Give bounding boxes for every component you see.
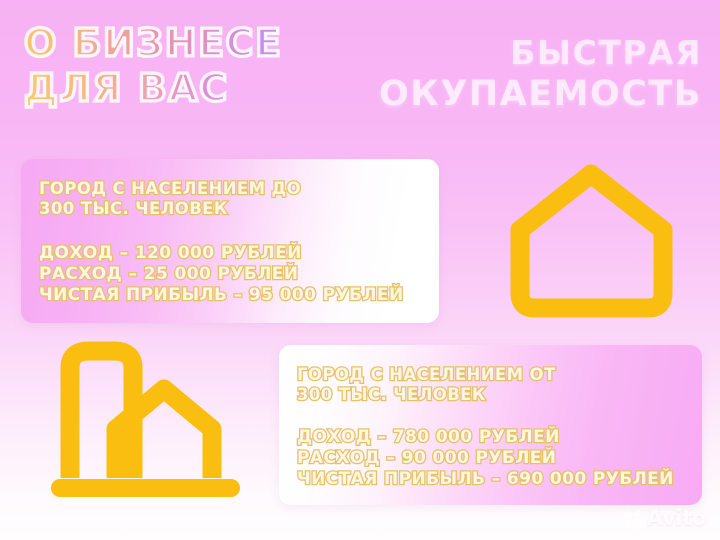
avito-watermark: Avito	[623, 506, 706, 530]
avito-dots-logo-icon	[623, 508, 643, 528]
card-title-line-2: 300 ТЫС. ЧЕЛОВЕК	[39, 199, 421, 219]
page-title-line-2-text: ДЛЯ ВАС	[24, 69, 229, 108]
page-title-line-2: ДЛЯ ВАС	[24, 69, 282, 108]
stat-income: ДОХОД – 120 000 РУБЛЕЙ	[39, 243, 421, 264]
stat-profit: ЧИСТАЯ ПРИБЫЛЬ – 95 000 РУБЛЕЙ	[39, 285, 421, 306]
subtitle-heading: БЫСТРАЯ ОКУПАЕМОСТЬ	[379, 36, 702, 112]
two-buildings-outline-icon	[48, 338, 243, 503]
card-stats: ДОХОД – 120 000 РУБЛЕЙ РАСХОД – 25 000 Р…	[39, 243, 421, 305]
avito-watermark-text: Avito	[647, 506, 706, 530]
info-card-large-city: ГОРОД С НАСЕЛЕНИЕМ ОТ 300 ТЫС. ЧЕЛОВЕК Д…	[279, 345, 702, 505]
stat-expense: РАСХОД – 90 000 РУБЛЕЙ	[297, 448, 684, 469]
card-title-line-1: ГОРОД С НАСЕЛЕНИЕМ ОТ	[297, 365, 684, 385]
stat-profit: ЧИСТАЯ ПРИБЫЛЬ – 690 000 РУБЛЕЙ	[297, 469, 684, 490]
card-title-line-1: ГОРОД С НАСЕЛЕНИЕМ ДО	[39, 179, 421, 199]
info-card-small-city: ГОРОД С НАСЕЛЕНИЕМ ДО 300 ТЫС. ЧЕЛОВЕК Д…	[21, 159, 439, 323]
page-title-line-1: О БИЗНЕСЕ	[24, 24, 282, 63]
card-title-line-2: 300 ТЫС. ЧЕЛОВЕК	[297, 385, 684, 405]
page-title: О БИЗНЕСЕ ДЛЯ ВАС	[24, 24, 282, 108]
page-title-line-1-text: О БИЗНЕСЕ	[24, 24, 282, 63]
subtitle-heading-line-2: ОКУПАЕМОСТЬ	[379, 77, 702, 113]
promo-banner: О БИЗНЕСЕ ДЛЯ ВАС БЫСТРАЯ ОКУПАЕМОСТЬ ГО…	[0, 0, 720, 540]
stat-expense: РАСХОД – 25 000 РУБЛЕЙ	[39, 264, 421, 285]
card-title: ГОРОД С НАСЕЛЕНИЕМ ДО 300 ТЫС. ЧЕЛОВЕК	[39, 179, 421, 219]
subtitle-heading-line-1: БЫСТРАЯ	[379, 36, 702, 70]
card-stats: ДОХОД – 780 000 РУБЛЕЙ РАСХОД – 90 000 Р…	[297, 427, 684, 489]
card-title: ГОРОД С НАСЕЛЕНИЕМ ОТ 300 ТЫС. ЧЕЛОВЕК	[297, 365, 684, 405]
stat-income: ДОХОД – 780 000 РУБЛЕЙ	[297, 427, 684, 448]
house-outline-icon	[505, 158, 680, 323]
